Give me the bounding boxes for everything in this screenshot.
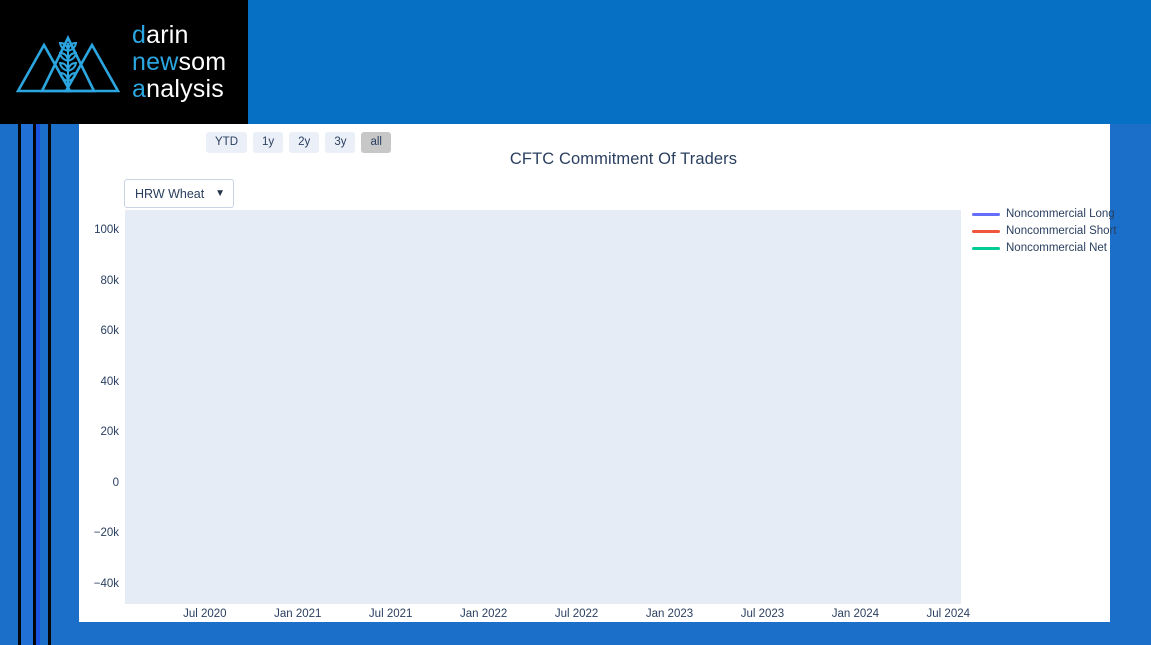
- x-tick-label: Jan 2023: [646, 608, 693, 620]
- legend-color-swatch: [972, 247, 1000, 250]
- chart-card: YTD1y2y3yall CFTC Commitment Of Traders …: [79, 124, 1110, 622]
- brand-logo: darin newsom analysis: [0, 0, 248, 124]
- brand-line-1-accent: d: [132, 21, 146, 49]
- x-tick-label: Jul 2022: [555, 608, 598, 620]
- x-tick-label: Jul 2021: [369, 608, 412, 620]
- commodity-select-value: HRW Wheat: [135, 187, 204, 201]
- legend-item[interactable]: Noncommercial Short: [972, 225, 1117, 237]
- brand-line-2-accent-w: w: [160, 48, 178, 76]
- background-top-right: [248, 0, 1151, 124]
- brand-line-1-rest: arin: [146, 21, 189, 49]
- left-stripe-gap-1: [21, 110, 33, 645]
- y-tick-label: 0: [113, 477, 119, 489]
- x-tick-label: Jan 2024: [832, 608, 879, 620]
- y-tick-label: 60k: [100, 325, 119, 337]
- brand-line-2-accent: ne: [132, 48, 160, 76]
- legend-label: Noncommercial Short: [1006, 225, 1117, 237]
- y-tick-label: 20k: [100, 426, 119, 438]
- legend-color-swatch: [972, 213, 1000, 216]
- brand-line-3-rest: nalysis: [146, 75, 224, 103]
- x-tick-label: Jan 2022: [460, 608, 507, 620]
- brand-line-3: analysis: [132, 76, 226, 103]
- x-tick-label: Jul 2023: [741, 608, 784, 620]
- chart-legend[interactable]: Noncommercial LongNoncommercial ShortNon…: [972, 208, 1117, 254]
- y-tick-label: 40k: [100, 376, 119, 388]
- legend-item[interactable]: Noncommercial Net: [972, 242, 1117, 254]
- left-stripe-3: [48, 110, 51, 645]
- x-tick-label: Jul 2020: [183, 608, 226, 620]
- commodity-select[interactable]: HRW Wheat ▼: [124, 179, 234, 208]
- brand-line-3-accent: a: [132, 75, 146, 103]
- brand-line-2-rest: som: [178, 48, 226, 76]
- screenshot-root: darin newsom analysis YTD1y2y3yall CFTC …: [0, 0, 1151, 645]
- mountains-wheat-logo-icon: [14, 21, 122, 104]
- legend-color-swatch: [972, 230, 1000, 233]
- brand-line-1: darin: [132, 22, 226, 49]
- legend-label: Noncommercial Long: [1006, 208, 1115, 220]
- legend-label: Noncommercial Net: [1006, 242, 1107, 254]
- brand-line-2: newsom: [132, 49, 226, 76]
- x-tick-label: Jul 2024: [927, 608, 970, 620]
- y-tick-label: 100k: [94, 224, 119, 236]
- chart-title-text: CFTC Commitment Of Traders: [510, 150, 737, 168]
- brand-wordmark: darin newsom analysis: [132, 22, 226, 103]
- chevron-down-icon: ▼: [215, 188, 225, 199]
- left-stripe-accent: [36, 110, 40, 645]
- plot-background: [125, 210, 961, 604]
- legend-item[interactable]: Noncommercial Long: [972, 208, 1117, 220]
- y-tick-label: 80k: [100, 275, 119, 287]
- plot-area[interactable]: 100k80k60k40k20k0−20k−40k Jul 2020Jan 20…: [125, 210, 961, 604]
- x-tick-label: Jan 2021: [274, 608, 321, 620]
- y-tick-label: −20k: [94, 527, 119, 539]
- y-tick-label: −40k: [94, 578, 119, 590]
- page-title: CFTC Commitment Of Traders: [79, 150, 1110, 169]
- y-axis-tick-labels: 100k80k60k40k20k0−20k−40k: [81, 210, 119, 604]
